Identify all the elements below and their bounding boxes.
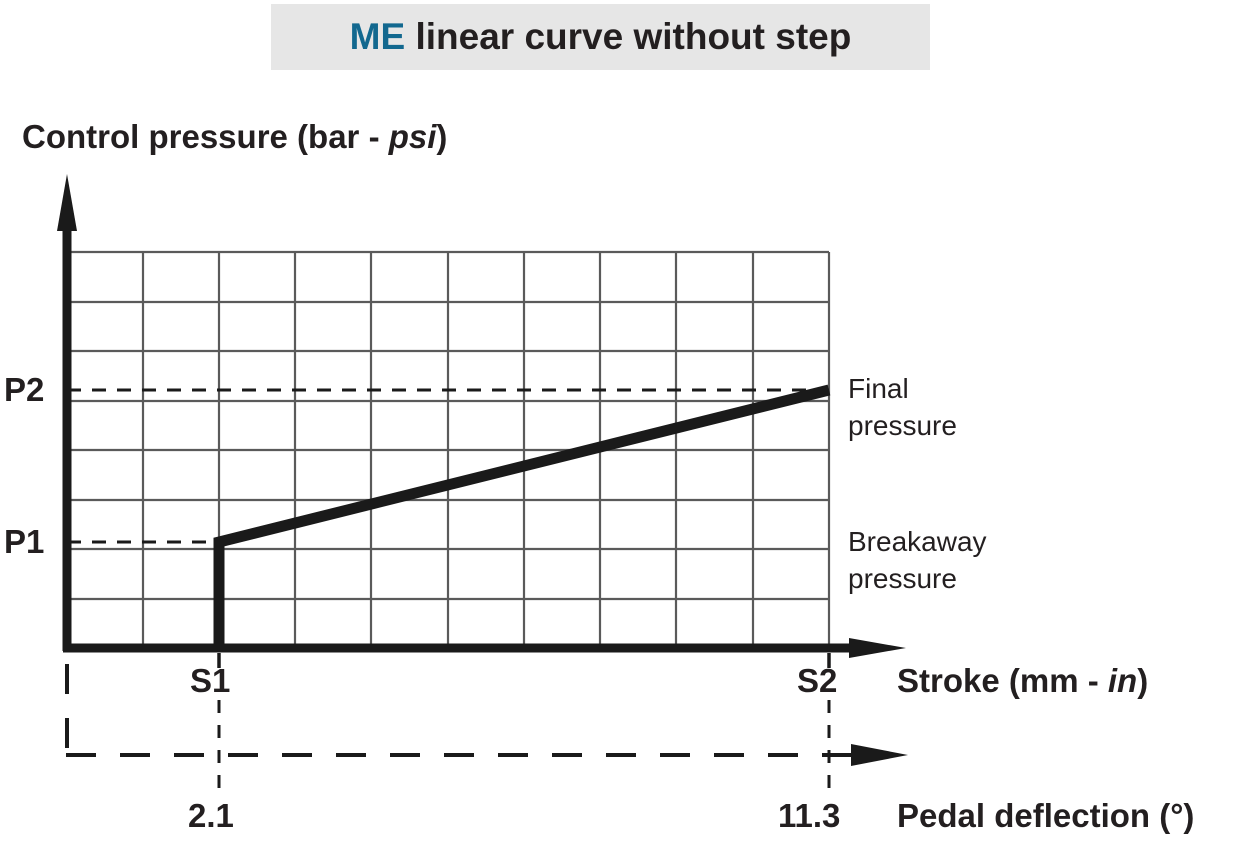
annotation-final-pressure: Final pressure [848, 370, 957, 444]
x-axis-ticks [219, 653, 829, 668]
annotation-breakaway-pressure-line1: Breakaway [848, 523, 987, 560]
x-tick-label-s1: S1 [190, 662, 230, 700]
annotation-breakaway-pressure-line2: pressure [848, 560, 987, 597]
x-tick-label-s2: S2 [797, 662, 837, 700]
pedal-deflection-value-s2: 11.3 [778, 797, 840, 835]
annotation-final-pressure-line1: Final [848, 370, 957, 407]
annotation-final-pressure-line2: pressure [848, 407, 957, 444]
y-axis-arrowhead [57, 174, 77, 231]
plot-canvas [0, 0, 1258, 847]
pedal-deflection-axis-arrowhead [851, 744, 908, 766]
diagram-root: ME linear curve without step Control pre… [0, 0, 1258, 847]
y-tick-label-p1: P1 [4, 523, 44, 561]
x-axis-arrowhead [849, 638, 906, 658]
annotation-breakaway-pressure: Breakaway pressure [848, 523, 987, 597]
y-tick-label-p2: P2 [4, 371, 44, 409]
pedal-deflection-value-s1: 2.1 [188, 797, 234, 835]
